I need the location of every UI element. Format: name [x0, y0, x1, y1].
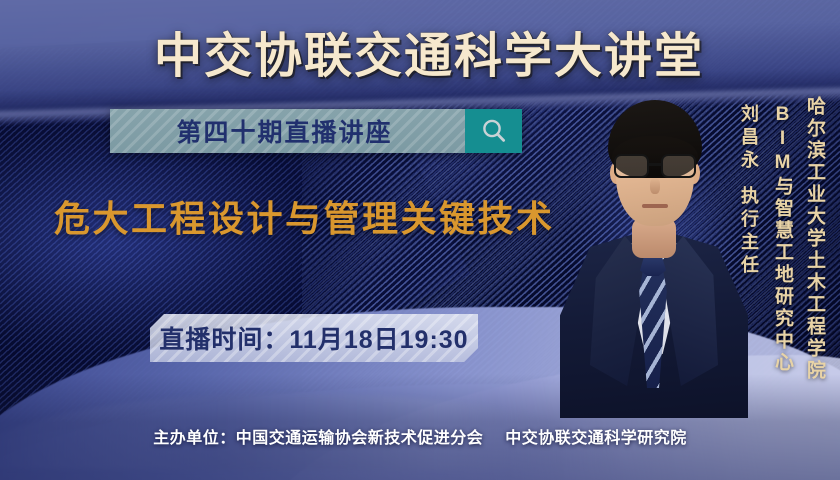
speaker-research-center: BIM与智慧工地研究中心	[769, 104, 796, 374]
portrait-mouth	[642, 204, 668, 208]
session-banner: 第四十期直播讲座	[110, 109, 522, 153]
glasses-lens-left	[614, 154, 649, 178]
speaker-portrait	[556, 78, 752, 408]
session-banner-body: 第四十期直播讲座	[110, 109, 465, 153]
portrait-nose	[650, 178, 660, 194]
footer-organizers: 主办单位：中国交通运输协会新技术促进分会中交协联交通科学研究院	[0, 424, 840, 448]
portrait-tie-knot	[640, 256, 666, 276]
session-label: 第四十期直播讲座	[176, 113, 398, 149]
poster-root: 中交协联交通科学大讲堂 第四十期直播讲座 危大工程设计与管理关键技术 直播时间：…	[0, 0, 840, 480]
footer-prefix: 主办单位：	[153, 430, 236, 447]
footer-org-1: 中国交通运输协会新技术促进分会	[236, 430, 484, 447]
search-icon[interactable]	[465, 109, 522, 153]
speaker-name: 刘昌永	[736, 104, 762, 173]
glasses-lens-right	[661, 154, 696, 178]
footer-org-2: 中交协联交通科学研究院	[505, 430, 687, 447]
live-time-banner: 直播时间：11月18日19:30	[150, 314, 478, 362]
main-title: 中交协联交通科学大讲堂	[0, 16, 840, 86]
headline: 危大工程设计与管理关键技术	[54, 190, 555, 242]
speaker-school: 哈尔滨工业大学土木工程学院	[801, 96, 828, 382]
glasses-bridge	[649, 163, 661, 166]
live-time-text: 直播时间：11月18日19:30	[159, 320, 468, 356]
glasses-icon	[612, 154, 698, 180]
speaker-role: 执行主任	[736, 186, 762, 278]
